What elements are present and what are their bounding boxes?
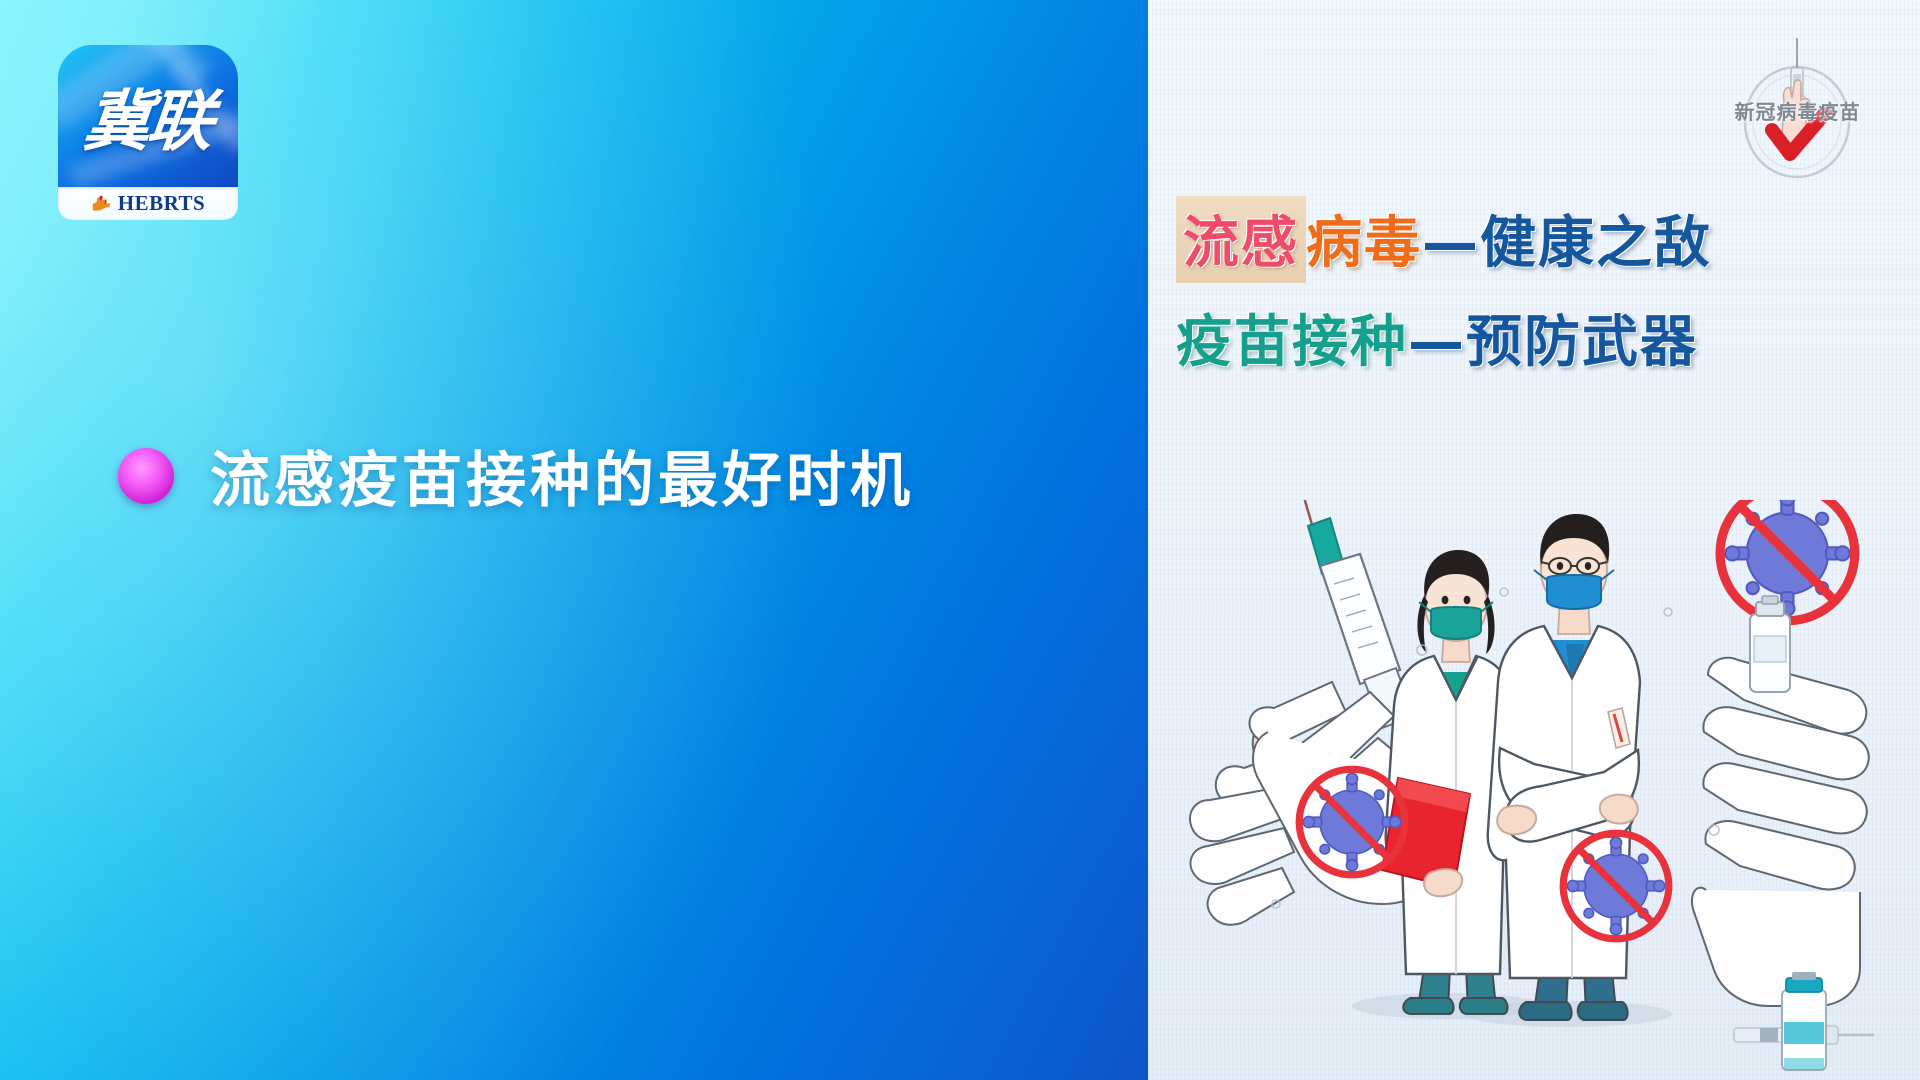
covid-vaccine-badge: 新冠病毒疫苗: [1722, 34, 1872, 184]
logo-tile: 冀联: [58, 45, 238, 187]
headline-weapon-blue: —预防武器: [1408, 297, 1698, 378]
magenta-bullet-dot: [118, 448, 174, 504]
virus-prohibited-icon-2: [1299, 769, 1405, 875]
brand-logo[interactable]: 冀联 HEBRTS: [58, 45, 238, 220]
great-wall-icon: [91, 194, 113, 214]
left-headline: 流感疫苗接种的最好时机: [118, 432, 914, 519]
vial-body: [1782, 972, 1826, 1070]
virus-prohibited-icon-1: [1720, 500, 1855, 621]
left-blue-panel: 冀联 HEBRTS 流感疫苗接种的最好时机: [0, 0, 1148, 1080]
covid-badge-label: 新冠病毒疫苗: [1710, 96, 1885, 125]
female-mask: [1431, 607, 1481, 639]
left-headline-text: 流感疫苗接种的最好时机: [210, 432, 914, 519]
poster-stage: 冀联 HEBRTS 流感疫苗接种的最好时机: [0, 0, 1920, 1080]
right-headline: 流感 病毒 —健康之敌 疫苗接种 —预防武器: [1176, 196, 1892, 378]
vaccine-bottle-icon: [1750, 596, 1790, 692]
headline-flu-highlight: 流感: [1176, 196, 1306, 283]
logo-chinese-name: 冀联: [58, 45, 238, 187]
vaccine-vial-icon: [1730, 966, 1880, 1076]
right-illustration-panel: 新冠病毒疫苗 流感 病毒 —健康之敌 疫苗接种 —预防武器: [1148, 0, 1920, 1080]
headline-virus-orange: 病毒: [1306, 198, 1422, 279]
male-doctor-figure: [1488, 514, 1640, 1020]
male-mask: [1547, 575, 1601, 609]
logo-band-text: HEBRTS: [118, 191, 205, 216]
right-headline-line-2: 疫苗接种 —预防武器: [1176, 297, 1892, 378]
logo-name-band: HEBRTS: [58, 187, 238, 220]
headline-enemy-blue: —健康之敌: [1422, 198, 1712, 279]
headline-vaccination-teal: 疫苗接种: [1176, 297, 1408, 378]
right-headline-line-1: 流感 病毒 —健康之敌: [1176, 196, 1892, 283]
virus-prohibited-icon-3: [1563, 833, 1669, 939]
